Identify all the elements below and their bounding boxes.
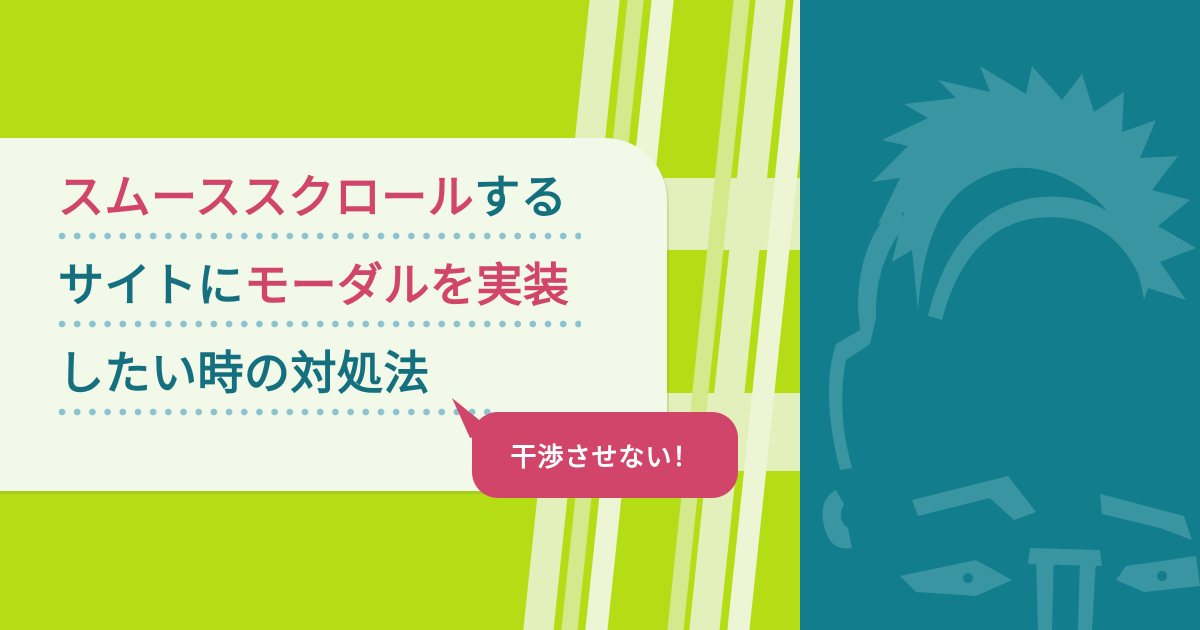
headline-line-2: サイトにモーダルを実装 (58, 262, 618, 308)
headline-line-3: したい時の対処法 (58, 350, 618, 396)
headline-line-2-teal: サイトに (58, 258, 244, 312)
headline-block: スムーススクロールする サイトにモーダルを実装 したい時の対処法 (58, 174, 618, 416)
dotted-rule (58, 232, 581, 240)
callout-badge-label: 干渉させない！ (510, 437, 699, 474)
headline-line-1: スムーススクロールする (58, 174, 618, 220)
headline-line-3-teal: したい時の対処法 (58, 346, 430, 400)
craftsman-face-illustration (800, 0, 1200, 630)
brand-panel: CYBER CRAFTMAN's VILLAGE BLOG 電脳職人村 TM (800, 0, 1200, 630)
og-image-canvas: CYBER CRAFTMAN's VILLAGE BLOG 電脳職人村 TM ス… (0, 0, 1200, 630)
callout-badge: 干渉させない！ (472, 412, 738, 498)
headline-line-2-pink: モーダルを実装 (244, 258, 570, 312)
badge-tail-icon (450, 398, 494, 438)
headline-line-1-pink: スムーススクロール (58, 170, 474, 224)
headline-line-1-teal: する (474, 170, 567, 224)
dotted-rule (58, 320, 581, 328)
dotted-rule (58, 408, 495, 416)
